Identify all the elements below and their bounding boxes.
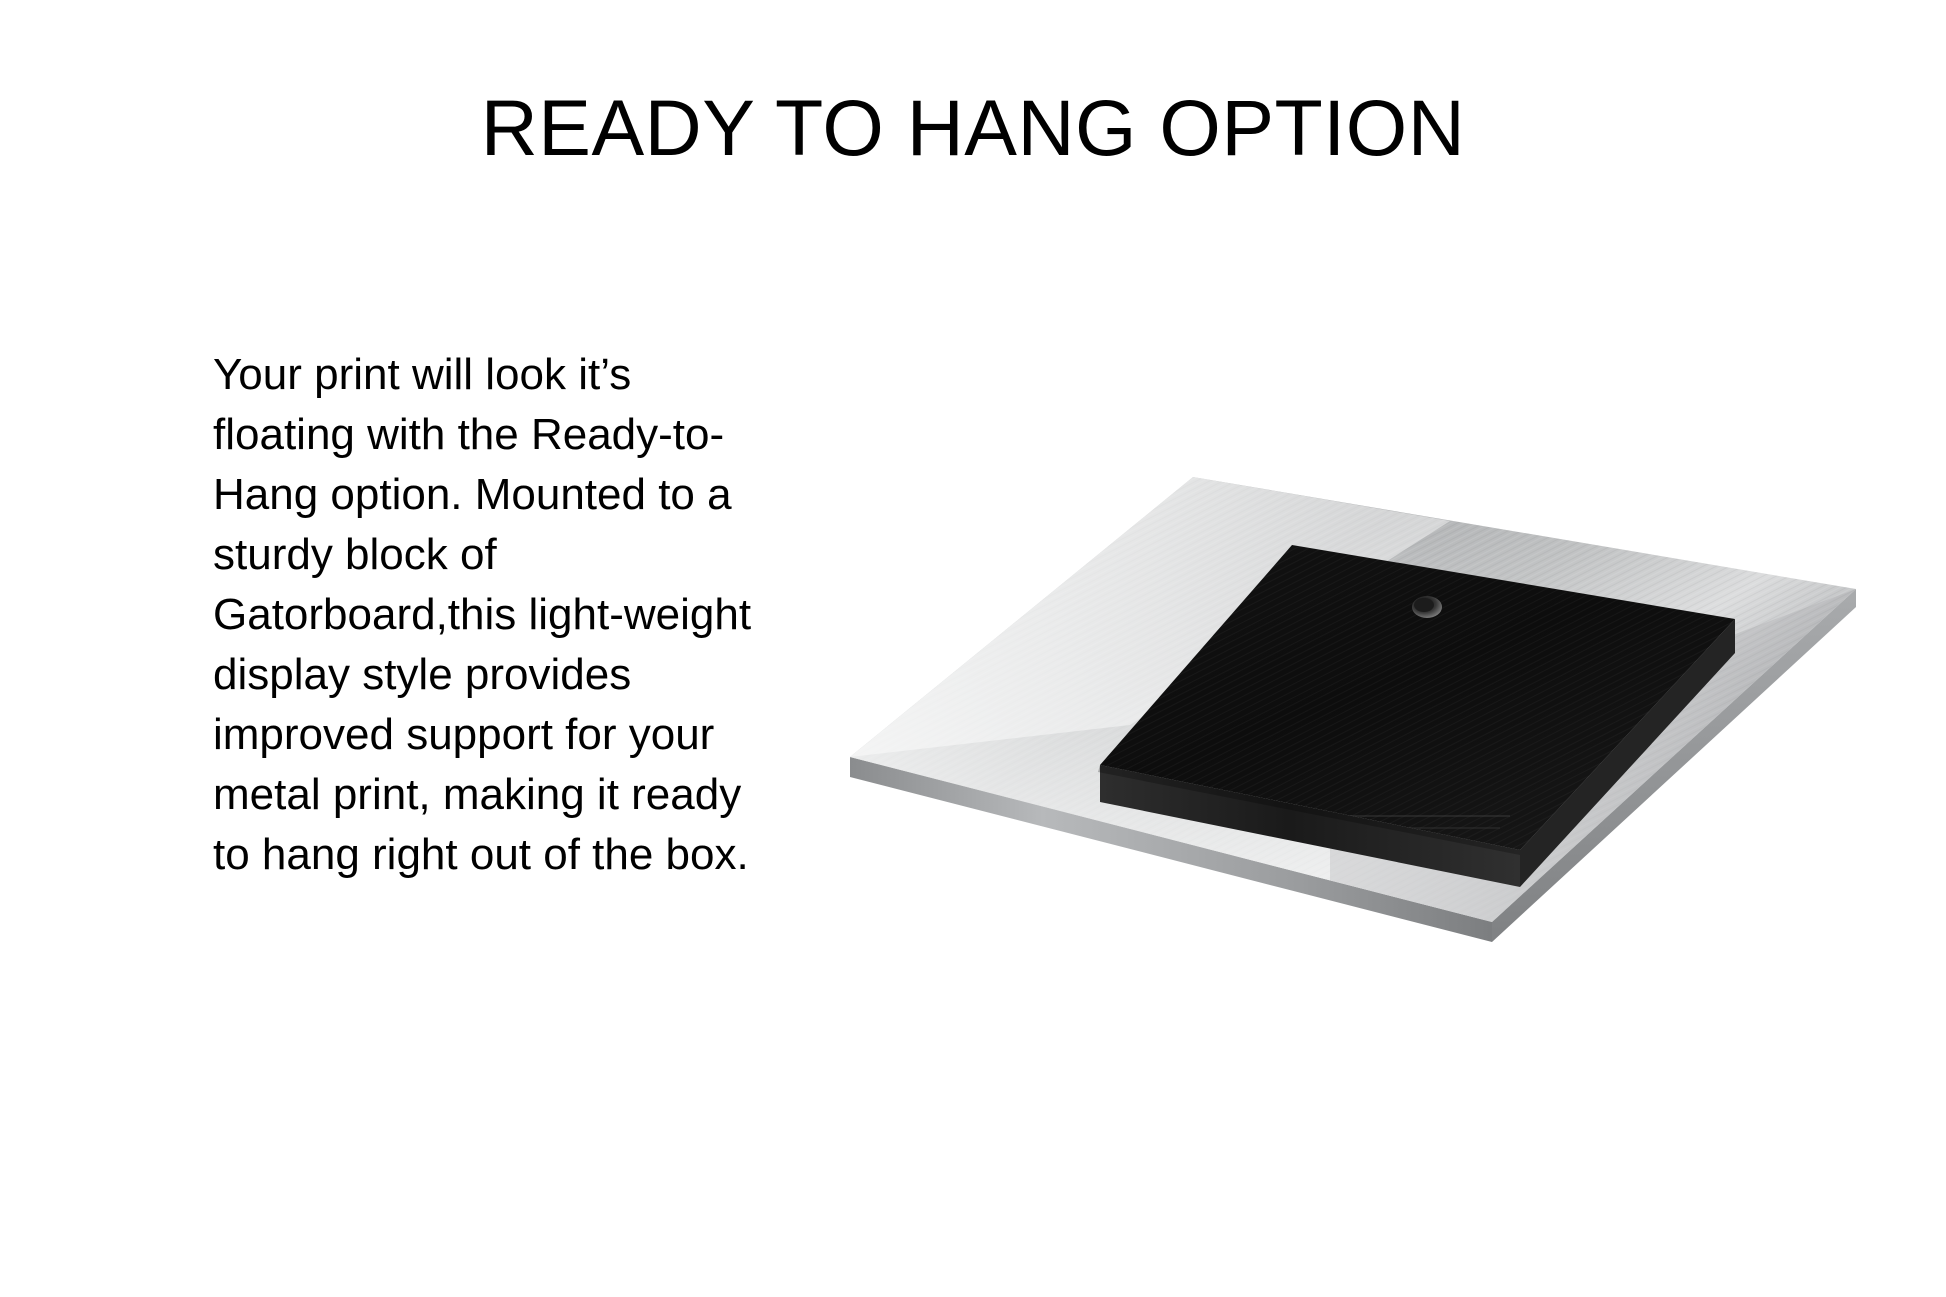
slide-canvas: READY TO HANG OPTION Your print will loo… — [0, 0, 1946, 1297]
product-image — [830, 455, 1880, 1015]
page-title: READY TO HANG OPTION — [0, 88, 1946, 167]
body-paragraph: Your print will look it’s floating with … — [213, 345, 758, 885]
